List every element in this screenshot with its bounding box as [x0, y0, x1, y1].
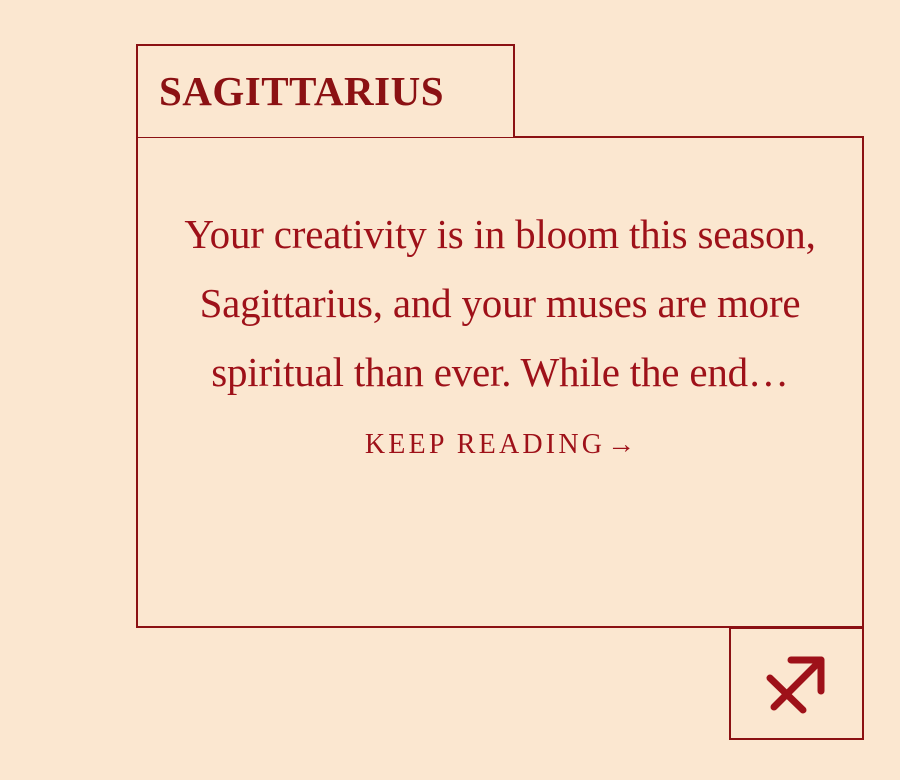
arrow-right-icon: → [607, 431, 635, 459]
sagittarius-glyph-icon [760, 647, 834, 721]
keep-reading-link[interactable]: KEEP READING → [365, 431, 635, 459]
zodiac-glyph-box[interactable] [729, 627, 864, 740]
horoscope-card-content: Your creativity is in bloom this season,… [138, 138, 862, 626]
horoscope-card-stage: SAGITTARIUS Your creativity is in bloom … [0, 0, 900, 780]
horoscope-card: Your creativity is in bloom this season,… [136, 136, 864, 628]
keep-reading-label: KEEP READING [365, 431, 605, 459]
horoscope-text: Your creativity is in bloom this season,… [170, 200, 830, 407]
sign-title-box: SAGITTARIUS [136, 44, 515, 137]
page-title: SAGITTARIUS [138, 71, 444, 112]
